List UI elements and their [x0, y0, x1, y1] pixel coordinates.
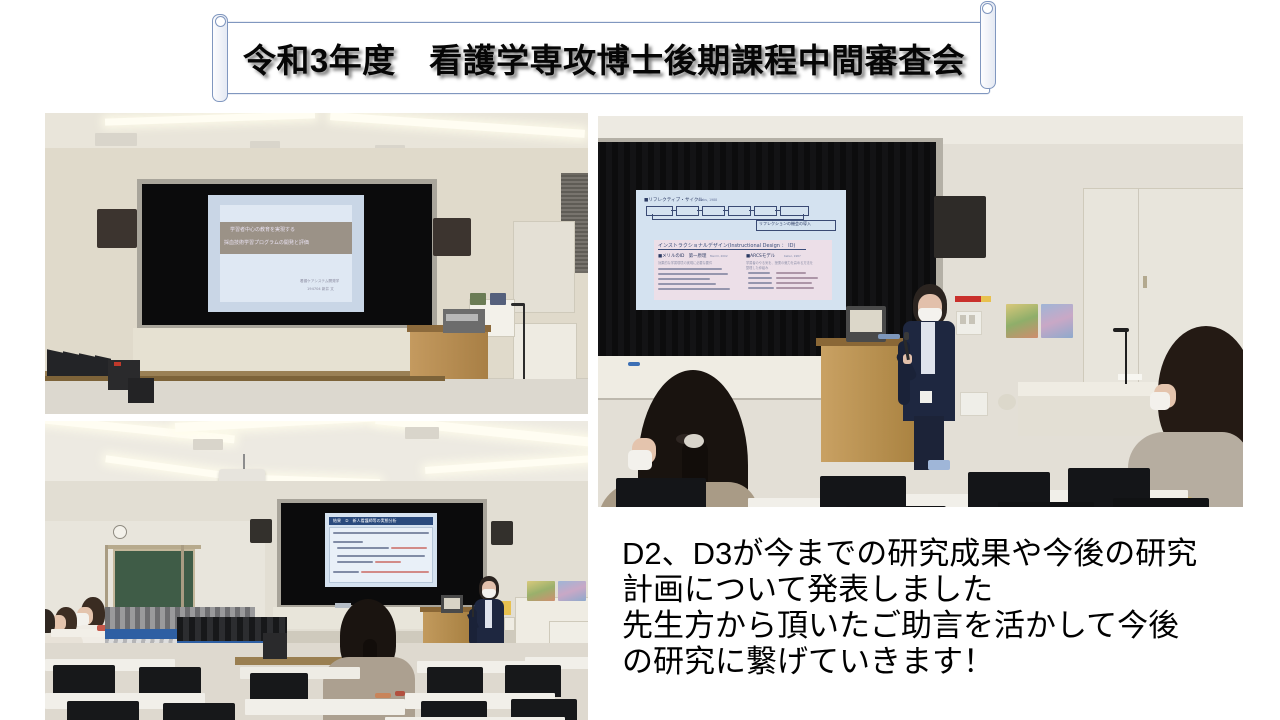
- caption-line-3: 先生方から頂いたご助言を活かして今後: [622, 608, 1262, 644]
- caption-line-4: の研究に繋げていきます！: [622, 644, 1262, 680]
- caption-line-2: 計画について発表しました: [622, 572, 1262, 608]
- photo-empty-lecture-hall: 学習者中心の教育を実現する 採血技術学習プログラムの開発と評価 看護ケアシステム…: [45, 113, 588, 414]
- scroll-curl-right-icon: [982, 3, 993, 14]
- scroll-curl-left-icon: [215, 16, 226, 27]
- page-title: 令和3年度 看護学専攻博士後期課程中間審査会: [219, 34, 989, 82]
- photo-audience-rear-view: 結果 ② 新人看護師等の実態分析: [45, 421, 588, 720]
- caption-line-1: D2、D3が今までの研究成果や今後の研究: [622, 536, 1262, 572]
- photo-presenter-at-podium: ■リフレクティブ・サイクル Gibbs, 1988 リフレクションの機会の導入 …: [598, 116, 1243, 507]
- title-banner: 令和3年度 看護学専攻博士後期課程中間審査会: [218, 22, 990, 94]
- caption-block: D2、D3が今までの研究成果や今後の研究 計画について発表しました 先生方から頂…: [622, 536, 1262, 680]
